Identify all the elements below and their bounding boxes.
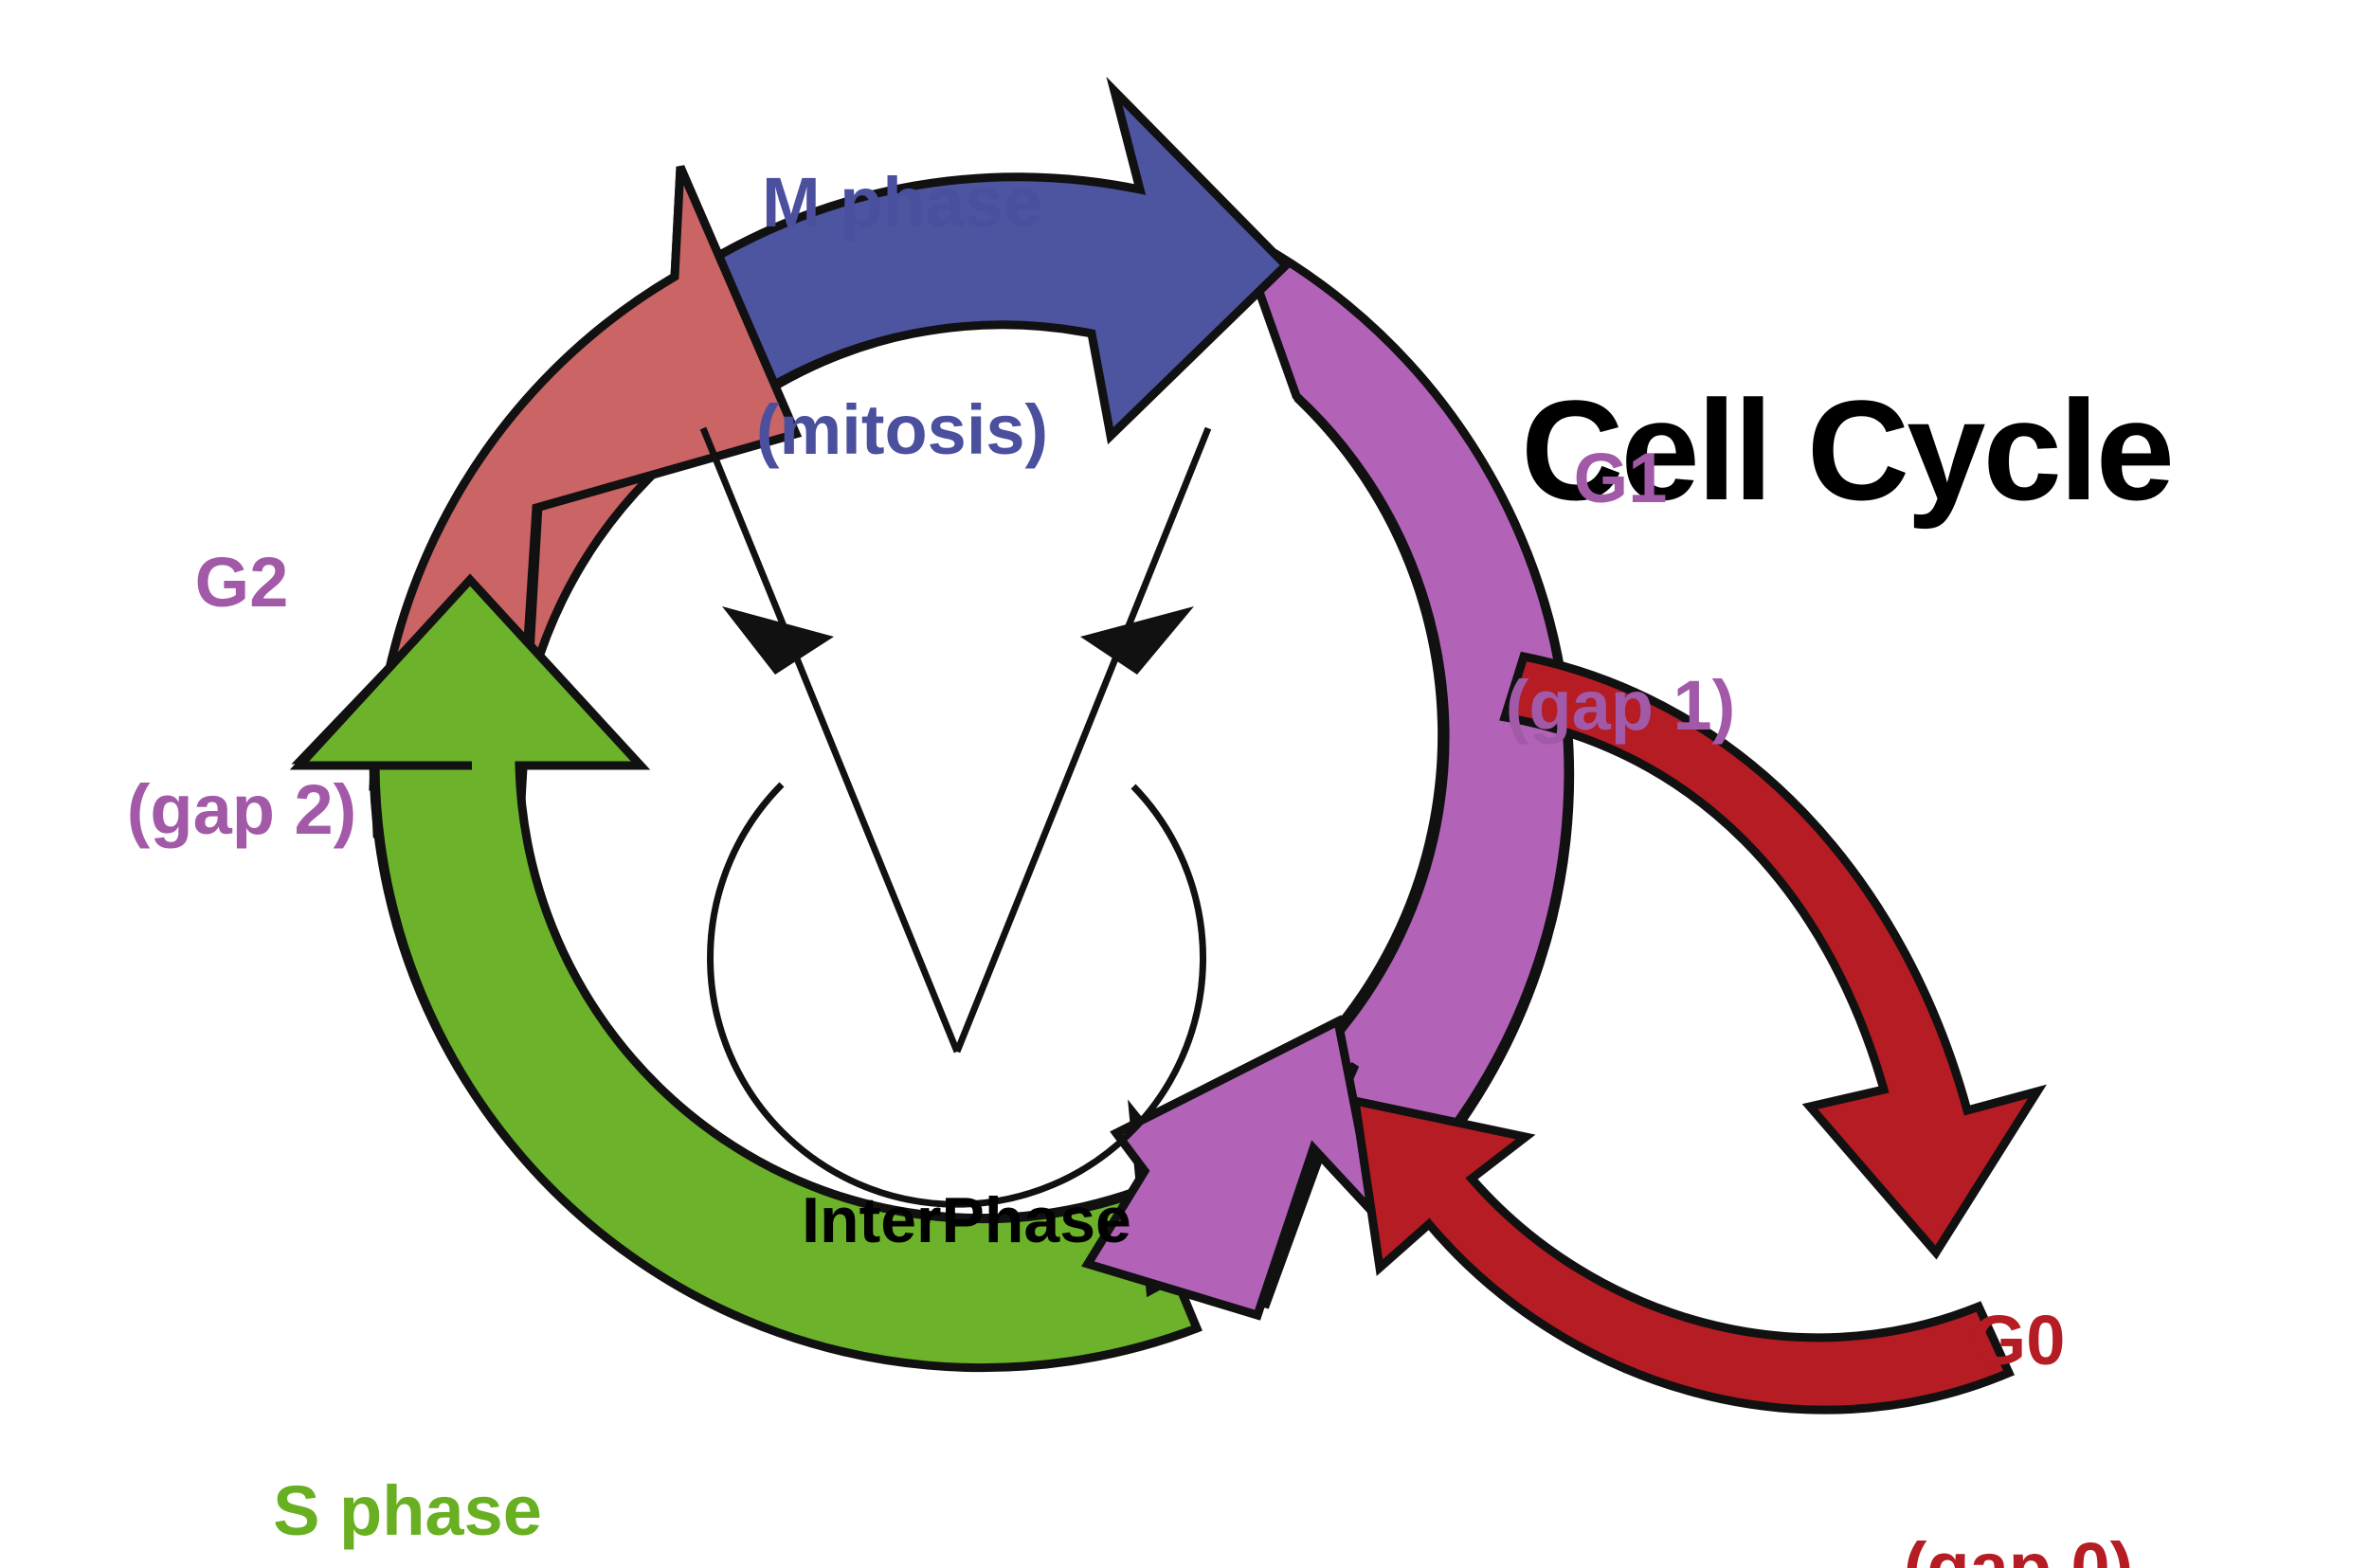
cell-cycle-figure: Cell Cycle M phase (mitosis) G1 (gap 1) … — [0, 0, 2369, 1568]
label-g1: G1 (gap 1) — [1440, 289, 1800, 894]
label-g1-line1: G1 — [1440, 441, 1800, 516]
label-g2: G2 (gap 2) — [57, 393, 426, 999]
label-s-phase-line1: S phase — [66, 1473, 749, 1549]
label-g2-line2: (gap 2) — [57, 772, 426, 848]
label-g0: G0 (gap 0) — [1834, 1151, 2203, 1568]
label-m-phase: M phase (mitosis) — [703, 13, 1101, 619]
label-g2-line1: G2 — [57, 545, 426, 621]
label-m-phase-line2: (mitosis) — [703, 392, 1101, 468]
label-m-phase-line1: M phase — [703, 165, 1101, 241]
label-s-phase: S phase (DNA synthesis) — [66, 1322, 749, 1568]
label-g0-line1: G0 — [1834, 1303, 2203, 1379]
label-g0-line2: (gap 0) — [1834, 1530, 2203, 1568]
label-interphase-text: InterPhase — [758, 1186, 1175, 1255]
label-interphase: InterPhase — [758, 1047, 1175, 1395]
label-g1-line2: (gap 1) — [1440, 668, 1800, 744]
